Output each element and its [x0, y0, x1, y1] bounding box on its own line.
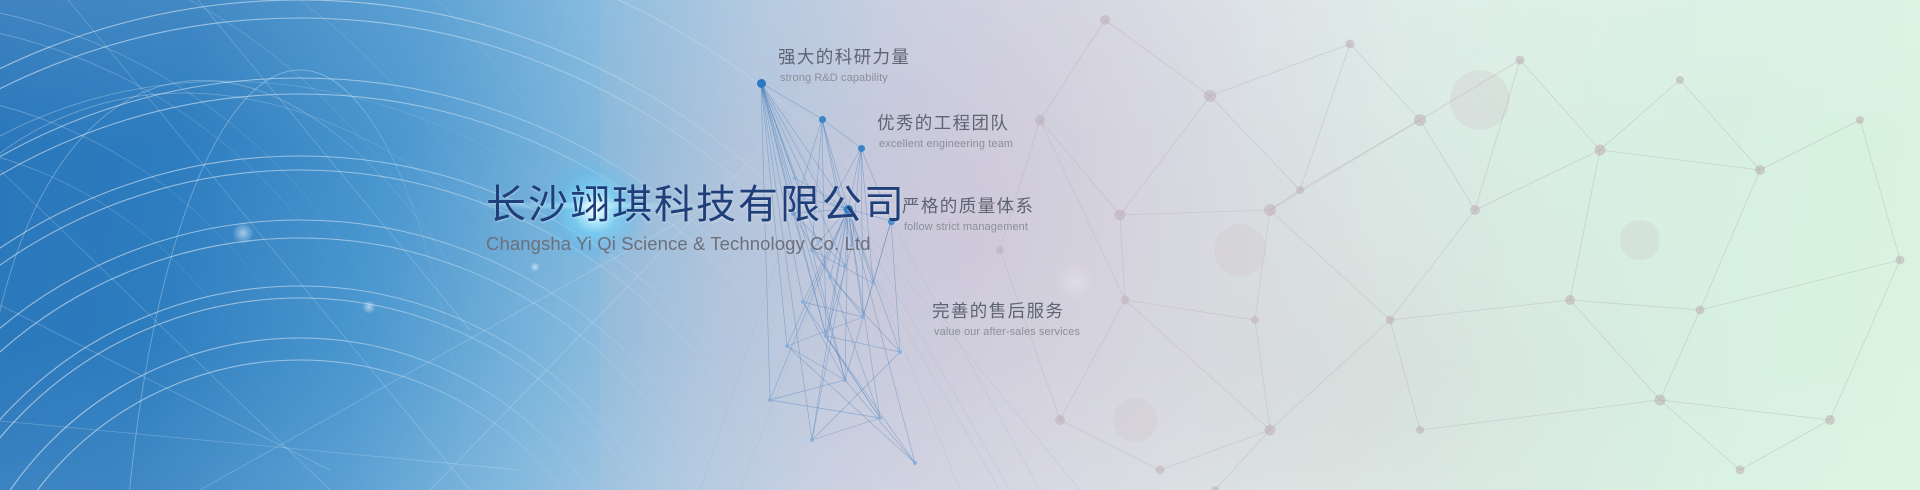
feature-callout-service: 完善的售后服务 value our after-sales services — [932, 300, 1080, 338]
feature-label-cn: 完善的售后服务 — [932, 300, 1080, 323]
feature-label-cn: 严格的质量体系 — [902, 195, 1034, 218]
company-name-cn: 长沙翊琪科技有限公司 — [486, 181, 906, 228]
node-network-graphic — [0, 0, 1920, 490]
feature-label-en: follow strict management — [902, 221, 1034, 233]
network-node — [844, 205, 853, 214]
network-node — [824, 334, 828, 338]
company-title-block: 长沙翊琪科技有限公司 Changsha Yi Qi Science & Tech… — [486, 181, 906, 255]
network-node — [913, 461, 917, 465]
network-node — [801, 300, 805, 304]
lilac-haze-overlay-secondary — [980, 120, 1740, 490]
lens-flare-streak — [470, 203, 720, 208]
network-node — [810, 438, 814, 442]
lilac-haze-overlay — [600, 0, 1500, 490]
network-node — [785, 344, 789, 348]
network-node — [850, 243, 854, 247]
feature-label-en: strong R&D capability — [778, 72, 910, 84]
network-node — [768, 398, 772, 402]
network-node — [824, 199, 828, 203]
feature-label-cn: 优秀的工程团队 — [877, 112, 1013, 135]
company-name-en: Changsha Yi Qi Science & Technology Co. … — [486, 233, 906, 255]
feature-label-en: value our after-sales services — [932, 326, 1080, 338]
wireframe-globe-graphic — [0, 0, 1920, 490]
hero-banner: 长沙翊琪科技有限公司 Changsha Yi Qi Science & Tech… — [0, 0, 1920, 490]
network-node-dots — [0, 0, 1920, 490]
feature-callout-quality: 严格的质量体系 follow strict management — [902, 195, 1034, 233]
vertical-shade-overlay — [0, 0, 1920, 490]
feature-callout-team: 优秀的工程团队 excellent engineering team — [877, 112, 1013, 150]
feature-label-cn: 强大的科研力量 — [778, 46, 910, 69]
polygon-mesh-graphic — [0, 0, 1920, 490]
network-node — [888, 218, 895, 225]
network-node — [898, 350, 902, 354]
network-node — [858, 145, 865, 152]
network-node — [791, 211, 796, 216]
network-node — [757, 79, 766, 88]
network-node — [810, 248, 814, 252]
network-node — [819, 116, 826, 123]
feature-callout-rd: 强大的科研力量 strong R&D capability — [778, 46, 910, 84]
network-node — [878, 416, 882, 420]
bokeh-dot — [232, 222, 254, 244]
network-node — [802, 196, 806, 200]
bokeh-dot — [1055, 262, 1095, 302]
network-node — [871, 281, 875, 285]
network-node — [843, 378, 847, 382]
bokeh-dot — [530, 262, 540, 272]
network-node — [835, 190, 839, 194]
network-node — [828, 275, 832, 279]
network-node — [843, 264, 847, 268]
bokeh-dot — [362, 300, 376, 314]
feature-label-en: excellent engineering team — [877, 138, 1013, 150]
network-node — [793, 176, 797, 180]
network-node — [861, 315, 865, 319]
lens-flare-glow — [540, 155, 650, 265]
